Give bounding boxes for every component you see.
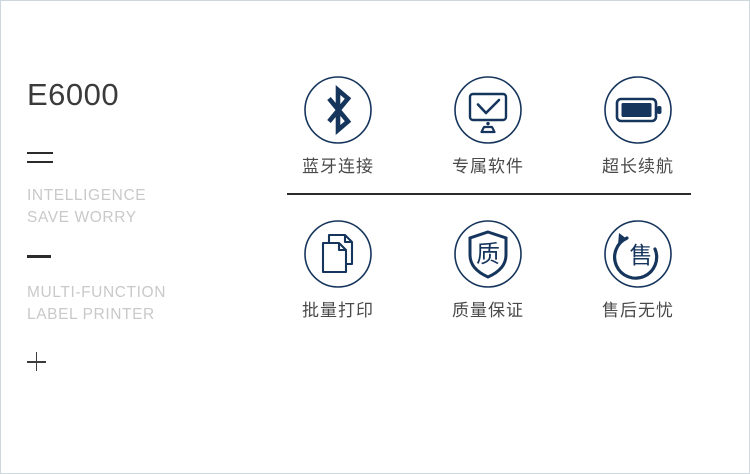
feature-item-batch-print[interactable]: 批量打印	[263, 219, 413, 319]
product-feature-banner: E6000 INTELLIGENCE SAVE WORRY MULTI-FUNC…	[0, 0, 750, 474]
left-info-panel: E6000 INTELLIGENCE SAVE WORRY MULTI-FUNC…	[27, 79, 247, 372]
documents-icon	[303, 219, 373, 289]
plus-mark-icon	[27, 352, 47, 372]
feature-grid: 蓝牙连接 专属软件 超长续航	[263, 75, 723, 319]
refresh-glyph: 售	[630, 243, 653, 269]
feature-row-top: 蓝牙连接 专属软件 超长续航	[263, 75, 723, 175]
monitor-check-icon	[453, 75, 523, 145]
shield-glyph: 质	[476, 240, 500, 268]
feature-item-battery[interactable]: 超长续航	[563, 75, 713, 175]
equals-rule-mark	[27, 152, 53, 163]
feature-item-quality[interactable]: 质 质量保证	[413, 219, 563, 319]
tagline-primary-line2: SAVE WORRY	[27, 207, 247, 229]
dash-rule-mark	[27, 255, 51, 258]
after-sales-refresh-icon: 售	[603, 219, 673, 289]
feature-label: 超长续航	[602, 158, 674, 175]
page-title: E6000	[27, 79, 247, 110]
tagline-primary: INTELLIGENCE SAVE WORRY	[27, 185, 247, 229]
bluetooth-icon	[303, 75, 373, 145]
tagline-secondary-line2: LABEL PRINTER	[27, 304, 247, 326]
grid-divider	[287, 193, 691, 195]
feature-label: 专属软件	[452, 158, 524, 175]
tagline-secondary: MULTI-FUNCTION LABEL PRINTER	[27, 282, 247, 326]
tagline-primary-line1: INTELLIGENCE	[27, 185, 247, 207]
feature-item-after-sales[interactable]: 售 售后无忧	[563, 219, 713, 319]
feature-label: 售后无忧	[602, 302, 674, 319]
feature-item-software[interactable]: 专属软件	[413, 75, 563, 175]
feature-label: 质量保证	[452, 302, 524, 319]
feature-item-bluetooth[interactable]: 蓝牙连接	[263, 75, 413, 175]
tagline-secondary-line1: MULTI-FUNCTION	[27, 282, 247, 304]
battery-icon	[603, 75, 673, 145]
feature-row-bottom: 批量打印 质 质量保证 售 售后无忧	[263, 219, 723, 319]
shield-quality-icon: 质	[453, 219, 523, 289]
feature-label: 批量打印	[302, 302, 374, 319]
feature-label: 蓝牙连接	[302, 158, 374, 175]
